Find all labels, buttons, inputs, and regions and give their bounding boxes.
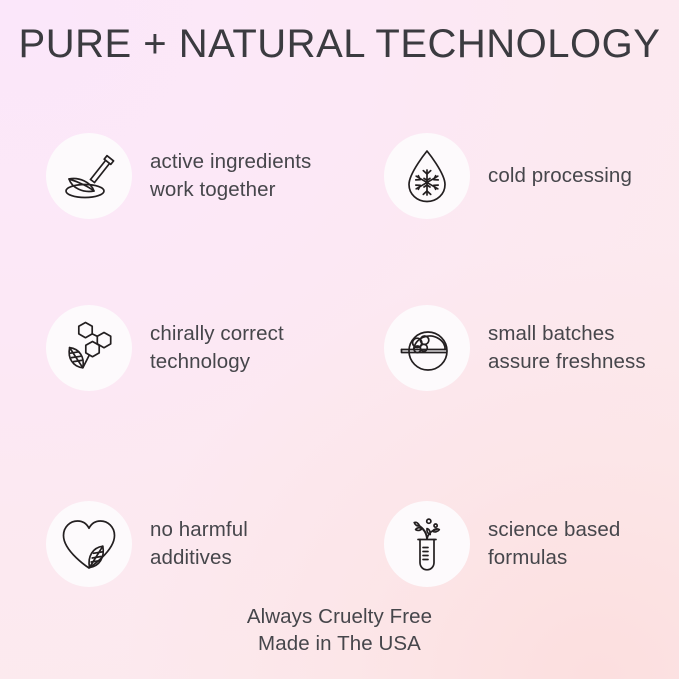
feature-item-active-ingredients: active ingredients work together bbox=[46, 133, 346, 219]
feature-label: science based formulas bbox=[488, 516, 620, 573]
footer-line-made-in-usa: Made in The USA bbox=[0, 630, 679, 657]
molecule-hexagons-leaf-icon bbox=[46, 305, 132, 391]
feature-label: small batches assure freshness bbox=[488, 320, 646, 377]
feature-label: cold processing bbox=[488, 162, 632, 190]
feature-item-no-harmful-additives: no harmful additives bbox=[46, 501, 346, 587]
feature-label: no harmful additives bbox=[150, 516, 248, 573]
poster-root: PURE + NATURAL TECHNOLOGY bbox=[0, 0, 679, 679]
bowl-spoon-cream-icon bbox=[384, 305, 470, 391]
feature-item-cold-processing: cold processing bbox=[384, 133, 679, 219]
feature-label: active ingredients work together bbox=[150, 148, 311, 205]
water-droplet-snowflake-icon bbox=[384, 133, 470, 219]
feature-item-chirally-correct: chirally correct technology bbox=[46, 305, 346, 391]
test-tube-plant-icon bbox=[384, 501, 470, 587]
feature-item-small-batches: small batches assure freshness bbox=[384, 305, 679, 391]
feature-label: chirally correct technology bbox=[150, 320, 284, 377]
feature-item-science-based: science based formulas bbox=[384, 501, 679, 587]
footer-note: Always Cruelty Free Made in The USA bbox=[0, 603, 679, 657]
page-title: PURE + NATURAL TECHNOLOGY bbox=[0, 22, 679, 67]
footer-line-cruelty-free: Always Cruelty Free bbox=[0, 603, 679, 630]
heart-leaf-icon bbox=[46, 501, 132, 587]
dropper-leaf-dish-icon bbox=[46, 133, 132, 219]
feature-grid: active ingredients work together bbox=[0, 125, 679, 600]
